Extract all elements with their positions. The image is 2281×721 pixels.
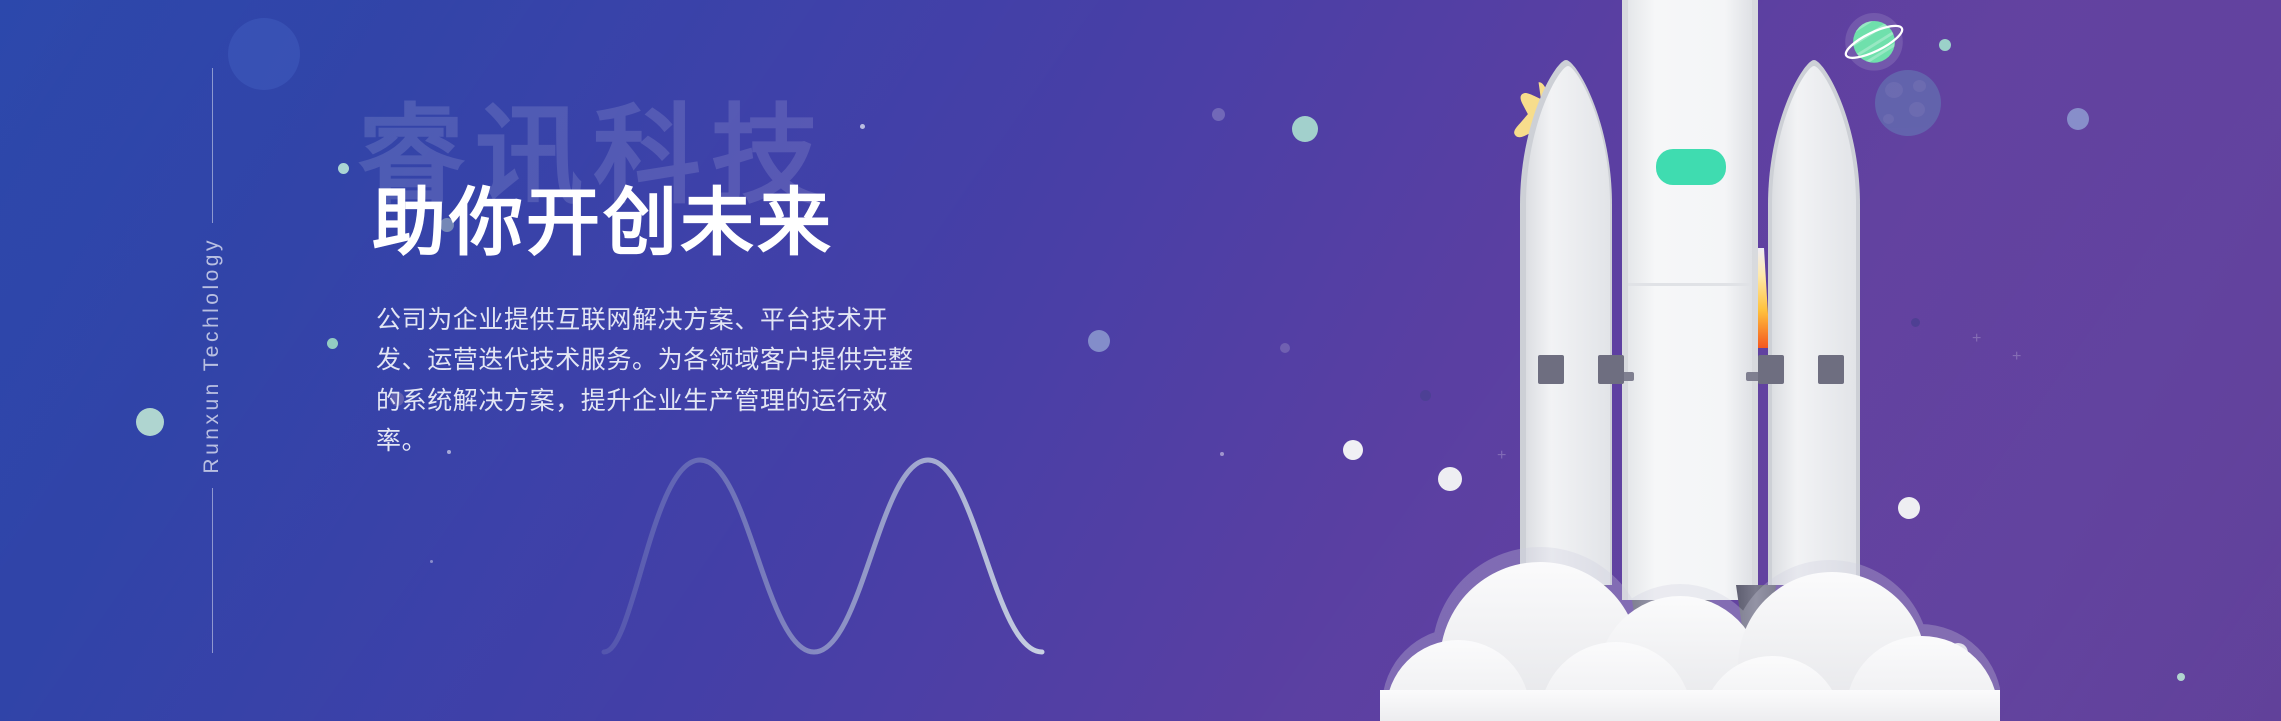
dot-mint-lower-left bbox=[327, 338, 338, 349]
vertical-brand-label: Runxun Techlology bbox=[200, 237, 224, 474]
dot-tiny-white-low bbox=[430, 560, 433, 563]
hero-banner: +++ Runxun Techlology 睿讯科技 助你开创未来 公司为企业提… bbox=[0, 0, 2281, 721]
plus-right-lower-icon: + bbox=[2012, 349, 2021, 365]
rocket-main-body bbox=[1622, 0, 1758, 600]
rocket-illustration bbox=[1380, 0, 2000, 721]
vertical-rule-top bbox=[212, 68, 213, 223]
dot-tiny-wave bbox=[1220, 452, 1224, 456]
vertical-rule-bottom bbox=[212, 488, 213, 653]
hero-text-block: 睿讯科技 助你开创未来 公司为企业提供互联网解决方案、平台技术开发、运营迭代技术… bbox=[372, 112, 1192, 462]
sine-wave-graphic bbox=[600, 440, 1060, 680]
dot-white-right-mid bbox=[1343, 440, 1363, 460]
dot-mint-bottom-r bbox=[2177, 673, 2185, 681]
dot-mint-right-top bbox=[1292, 116, 1318, 142]
hero-description: 公司为企业提供互联网解决方案、平台技术开发、运营迭代技术服务。为各领域客户提供完… bbox=[376, 300, 936, 462]
page-title: 助你开创未来 bbox=[372, 112, 1192, 262]
dot-mint-big-bottom bbox=[136, 408, 164, 436]
dot-violet-right bbox=[1280, 343, 1290, 353]
dot-slate-far-right bbox=[2067, 108, 2089, 130]
rocket-window bbox=[1656, 149, 1726, 185]
dot-violet-mid bbox=[1212, 108, 1225, 121]
vertical-brand: Runxun Techlology bbox=[182, 0, 242, 721]
dot-mint-mid-left bbox=[338, 163, 349, 174]
rocket-booster-right bbox=[1768, 60, 1860, 585]
rocket-booster-left bbox=[1520, 60, 1612, 585]
